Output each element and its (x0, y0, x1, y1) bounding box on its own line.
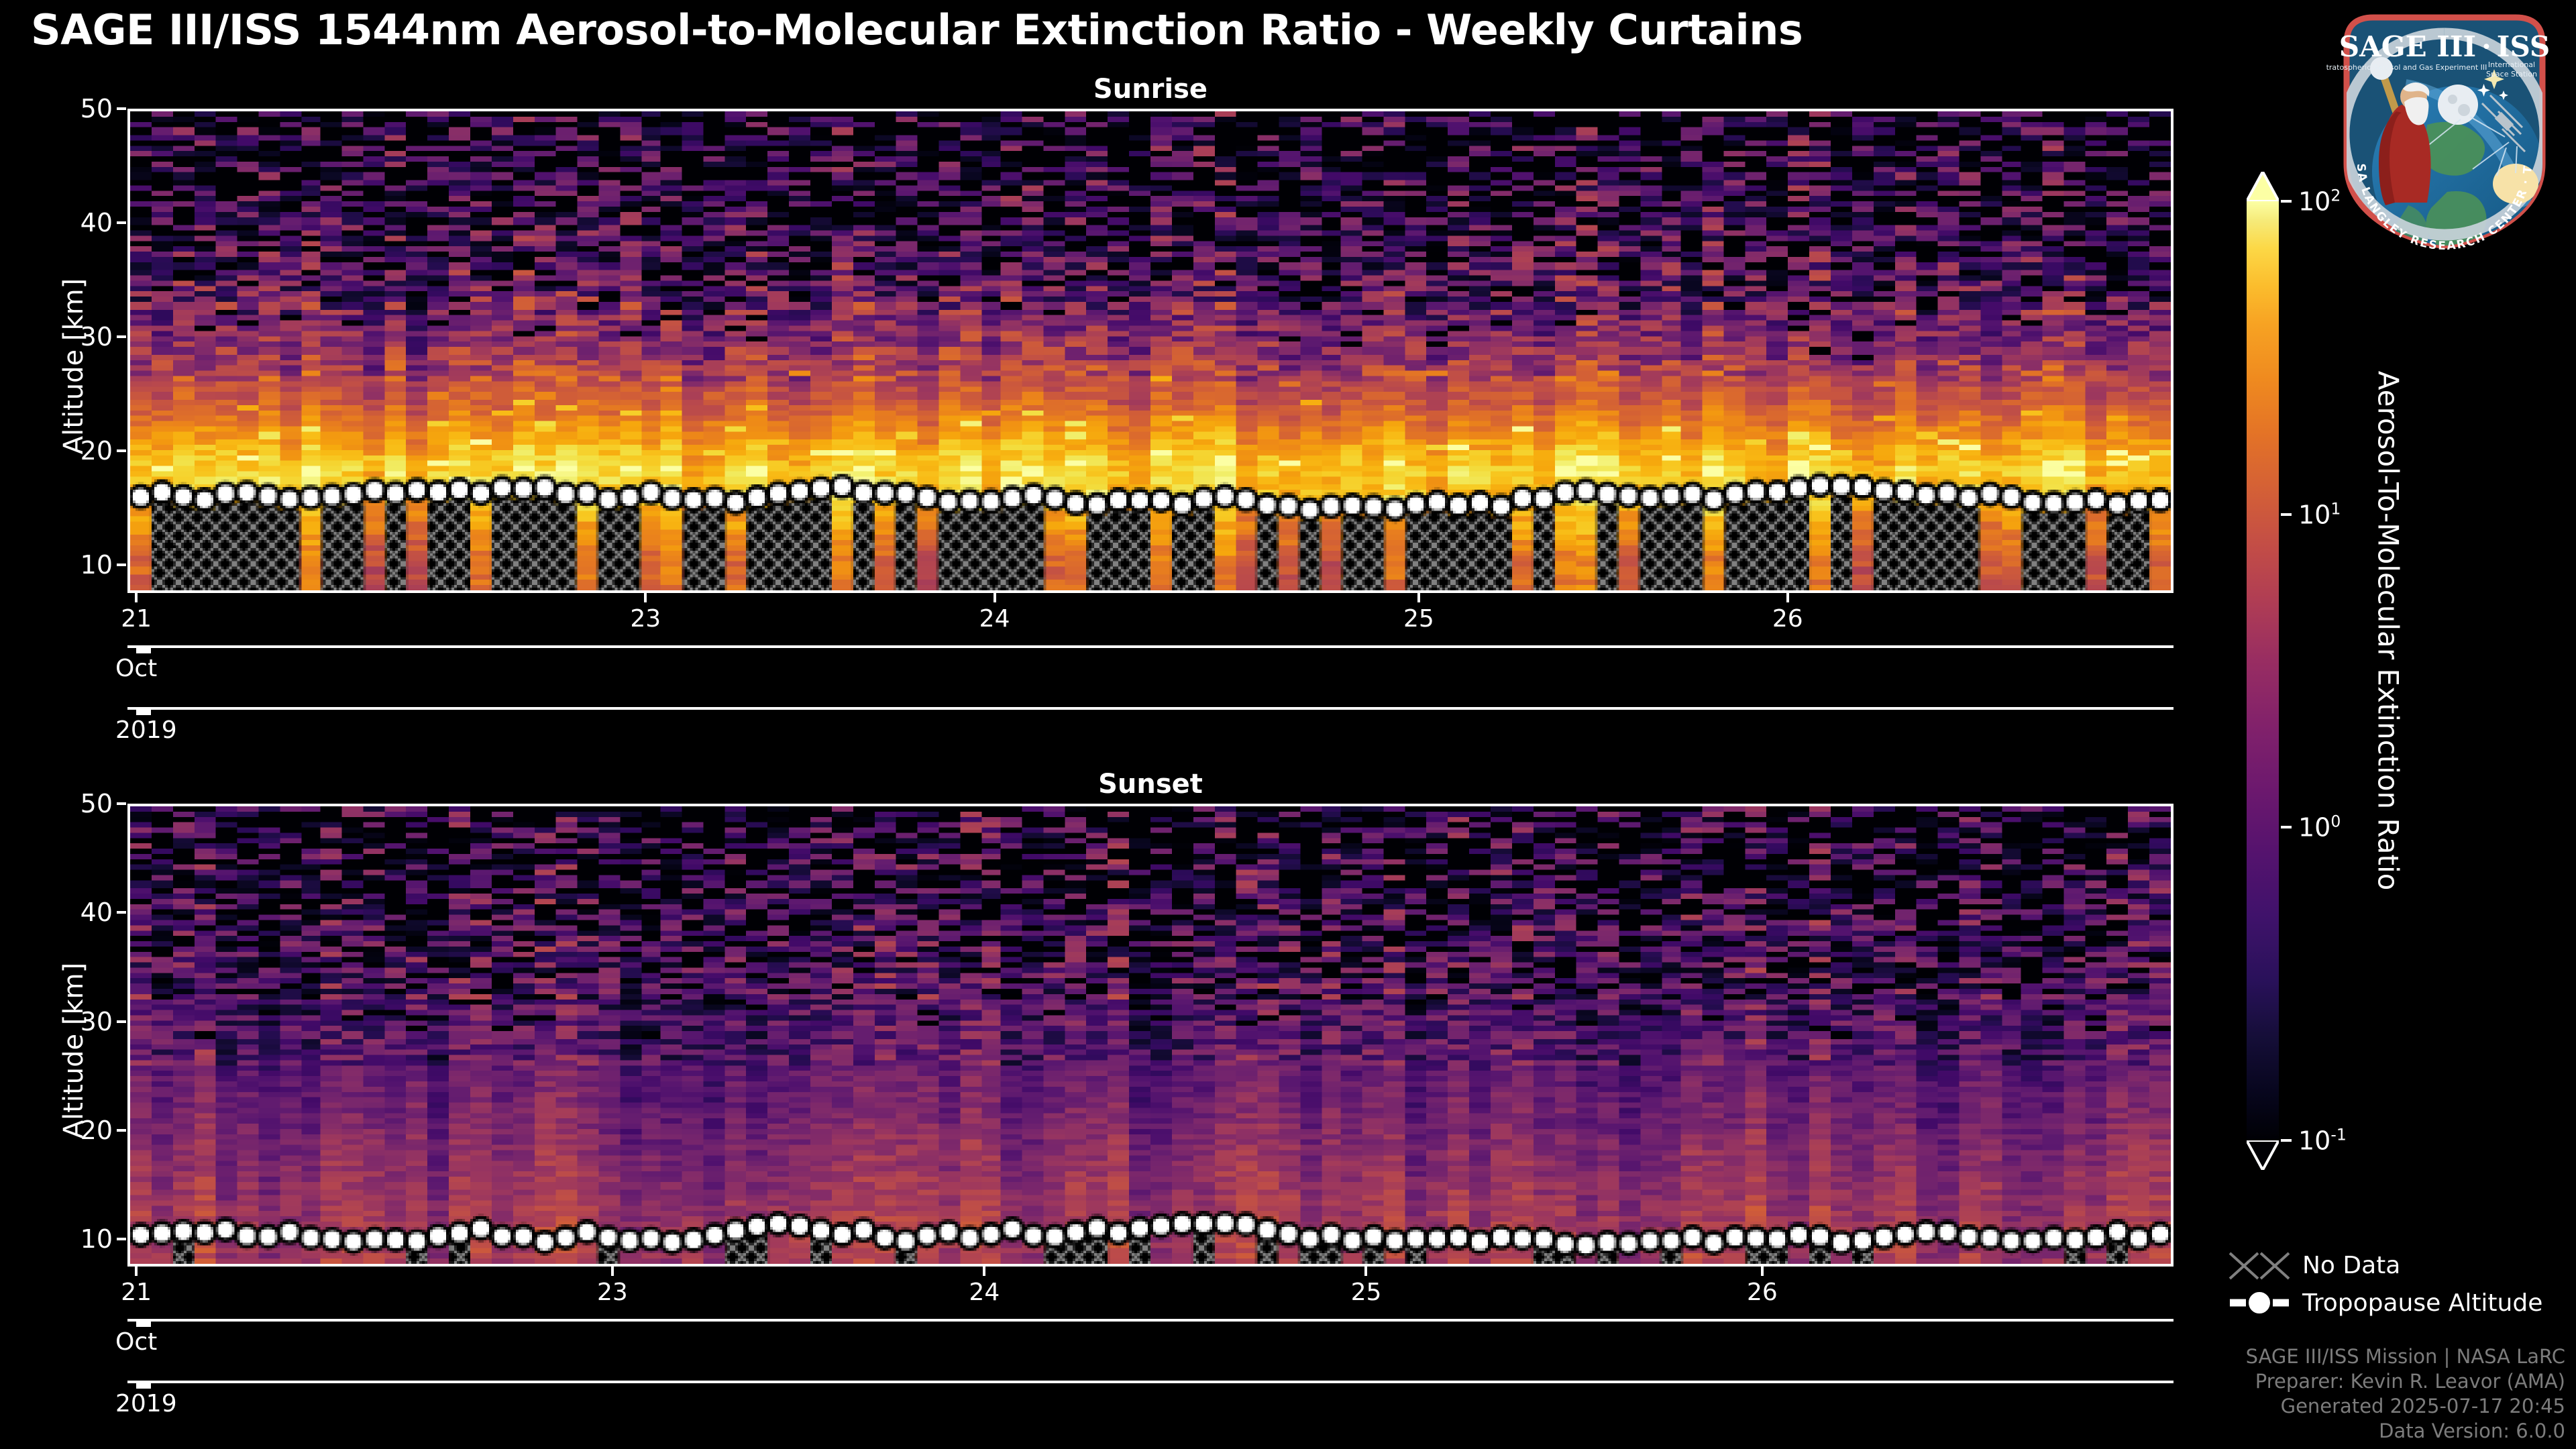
colorbar-tick-10 (2281, 513, 2292, 516)
xtick-label-sunrise-26: 26 (1772, 605, 1803, 633)
colorbar-tick-mantissa: 10 (2298, 1126, 2330, 1155)
panel-sunrise-title: Sunrise (127, 74, 2173, 105)
xtick-mark-sunrise-26 (1786, 593, 1789, 602)
colorbar-tick-label-1: 100 (2298, 812, 2341, 843)
colorbar-tick-exponent: 1 (2330, 499, 2341, 518)
moon-crater (2448, 95, 2457, 104)
xtick-mark-sunset-23 (611, 1267, 614, 1276)
moon-crater-2 (2458, 104, 2470, 116)
xtick-label-sunset-26: 26 (1747, 1279, 1778, 1306)
ytick-label-sunset-30: 30 (0, 1007, 113, 1036)
colorbar-tick-mantissa: 10 (2298, 500, 2330, 529)
xaxis-year-tick-sunrise (136, 707, 151, 715)
xaxis-month-label-sunset: Oct (115, 1328, 157, 1356)
xtick-mark-sunrise-25 (1417, 593, 1420, 602)
legend-label-no-data: No Data (2302, 1252, 2400, 1279)
xtick-label-sunset-25: 25 (1351, 1279, 1382, 1306)
xaxis-month-label-sunrise: Oct (115, 655, 157, 682)
xaxis-month-rule-sunset (127, 1319, 2173, 1322)
footer-line-version: Data Version: 6.0.0 (2246, 1419, 2565, 1444)
footer-line-preparer: Preparer: Kevin R. Leavor (AMA) (2246, 1369, 2565, 1394)
logo-title: SAGE III·ISS (2339, 30, 2550, 63)
xaxis-year-tick-sunset (136, 1381, 151, 1389)
xtick-mark-sunrise-21 (135, 593, 138, 602)
ytick-mark-sunrise-40 (117, 221, 126, 224)
colorbar-tick-label-10: 101 (2298, 499, 2341, 529)
colorbar-tick-mantissa: 10 (2298, 813, 2330, 843)
colorbar-tick-exponent: 2 (2330, 186, 2341, 205)
moon-icon (2438, 85, 2478, 125)
panel-sunrise-plot-area[interactable] (127, 109, 2173, 593)
ytick-mark-sunrise-30 (117, 335, 126, 338)
legend: No Data Tropopause Altitude (2229, 1246, 2564, 1322)
xaxis-year-rule-sunrise (127, 707, 2173, 710)
panel-sunset-title: Sunset (127, 769, 2173, 800)
xtick-mark-sunset-26 (1761, 1267, 1764, 1276)
xtick-mark-sunset-24 (983, 1267, 985, 1276)
colorbar-tick-label-100: 102 (2298, 186, 2341, 217)
mission-logo-svg: SAGE III·ISS Stratospheric Aerosol and G… (2326, 4, 2563, 251)
ytick-mark-sunset-20 (117, 1129, 126, 1132)
xaxis-month-tick-sunrise (136, 645, 151, 653)
xtick-mark-sunrise-24 (994, 593, 996, 602)
xaxis-month-tick-sunset (136, 1319, 151, 1327)
legend-label-tropopause: Tropopause Altitude (2302, 1289, 2542, 1317)
colorbar-title: Aerosol-To-Molecular Extinction Ratio (2372, 371, 2405, 891)
page-title: SAGE III/ISS 1544nm Aerosol-to-Molecular… (31, 5, 1803, 54)
colorbar-tick-100 (2281, 200, 2292, 203)
footer-line-generated: Generated 2025-07-17 20:45 (2246, 1394, 2565, 1419)
xtick-label-sunrise-21: 21 (121, 605, 152, 633)
ytick-label-sunrise-20: 20 (0, 436, 113, 466)
logo-subtitle-right-2: Space Station (2486, 70, 2537, 78)
yaxis-label-sunset: Altitude [km] (58, 916, 89, 1185)
ytick-label-sunrise-50: 50 (0, 94, 113, 123)
logo-subtitle-left: Stratospheric Aerosol and Gas Experiment… (2326, 63, 2487, 72)
ytick-label-sunset-20: 20 (0, 1116, 113, 1145)
yaxis-label-sunrise: Altitude [km] (58, 232, 89, 500)
ytick-mark-sunrise-20 (117, 449, 126, 452)
colorbar-tick-0.1 (2281, 1139, 2292, 1142)
colorbar-tick-exponent: 0 (2330, 812, 2341, 831)
colorbar-tick-exponent: -1 (2330, 1126, 2346, 1144)
sage-iii-iss-mission-logo: SAGE III·ISS Stratospheric Aerosol and G… (2326, 4, 2563, 251)
xtick-label-sunset-24: 24 (969, 1279, 1000, 1306)
ytick-label-sunset-10: 10 (0, 1224, 113, 1254)
footer-credits: SAGE III/ISS Mission | NASA LaRC Prepare… (2246, 1344, 2565, 1444)
ytick-mark-sunset-10 (117, 1238, 126, 1240)
xtick-label-sunrise-23: 23 (630, 605, 661, 633)
panel-sunset-plot-area[interactable] (127, 804, 2173, 1267)
heatmap-sunrise[interactable] (130, 111, 2171, 590)
colorbar-tick-label-0.1: 10-1 (2298, 1126, 2347, 1156)
heatmap-sunset[interactable] (130, 806, 2171, 1264)
colorbar-tick-1 (2281, 826, 2292, 828)
no-data-hatch-icon (2229, 1250, 2290, 1280)
ytick-label-sunrise-30: 30 (0, 322, 113, 352)
ytick-label-sunrise-10: 10 (0, 550, 113, 580)
legend-item-tropopause: Tropopause Altitude (2229, 1284, 2564, 1322)
ytick-label-sunrise-40: 40 (0, 208, 113, 237)
ytick-label-sunset-40: 40 (0, 898, 113, 927)
xtick-mark-sunrise-23 (644, 593, 647, 602)
logo-subtitle-right-1: International (2488, 60, 2535, 69)
ytick-mark-sunset-40 (117, 911, 126, 914)
xtick-label-sunrise-25: 25 (1403, 605, 1434, 633)
colorbar-gradient (2247, 201, 2279, 1140)
colorbar[interactable]: 10210110010-1 (2245, 201, 2281, 1140)
tropopause-marker-icon (2229, 1288, 2290, 1318)
xtick-mark-sunset-21 (135, 1267, 138, 1276)
xaxis-year-label-sunrise: 2019 (115, 716, 177, 744)
xtick-mark-sunset-25 (1364, 1267, 1367, 1276)
ytick-mark-sunset-30 (117, 1020, 126, 1023)
colorbar-extend-top (2247, 172, 2279, 201)
panel-sunset: Sunset (127, 804, 2173, 1267)
ytick-mark-sunset-50 (117, 802, 126, 805)
xaxis-month-rule-sunrise (127, 645, 2173, 648)
colorbar-extend-bottom (2247, 1140, 2279, 1170)
xtick-label-sunset-23: 23 (597, 1279, 628, 1306)
colorbar-tick-mantissa: 10 (2298, 186, 2330, 216)
xtick-label-sunset-21: 21 (121, 1279, 152, 1306)
panel-sunrise: Sunrise (127, 109, 2173, 593)
xaxis-year-label-sunset: 2019 (115, 1390, 177, 1417)
xtick-label-sunrise-24: 24 (979, 605, 1010, 633)
xaxis-year-rule-sunset (127, 1381, 2173, 1383)
legend-item-no-data: No Data (2229, 1246, 2564, 1284)
footer-line-mission: SAGE III/ISS Mission | NASA LaRC (2246, 1344, 2565, 1369)
ytick-label-sunset-50: 50 (0, 789, 113, 818)
ytick-mark-sunrise-50 (117, 107, 126, 110)
ytick-mark-sunrise-10 (117, 563, 126, 566)
